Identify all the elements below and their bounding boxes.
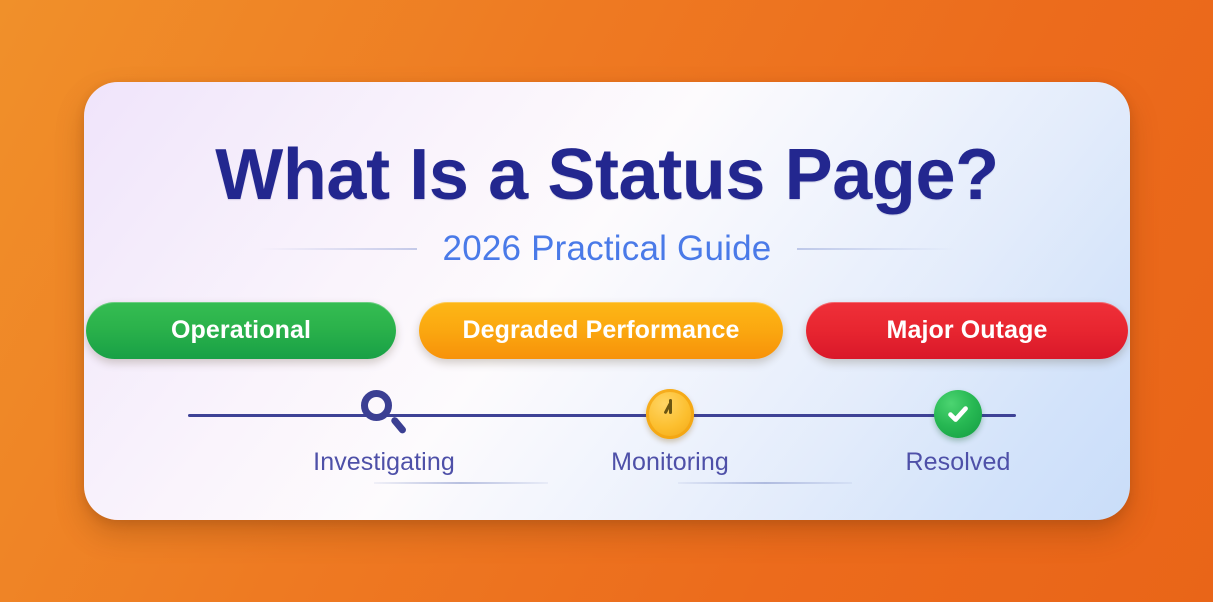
page-subtitle: 2026 Practical Guide	[443, 229, 772, 269]
subtitle-rule-left	[259, 248, 417, 250]
timeline-label-rule-1	[374, 482, 548, 484]
incident-timeline: Investigating Monitoring	[188, 398, 1016, 498]
status-page-card: What Is a Status Page? 2026 Practical Gu…	[84, 82, 1130, 520]
status-pill-row: Operational Degraded Performance Major O…	[84, 302, 1130, 359]
subtitle-rule-right	[797, 248, 955, 250]
status-badge-operational[interactable]: Operational	[86, 302, 396, 359]
status-badge-degraded[interactable]: Degraded Performance	[419, 302, 783, 359]
timeline-step-monitoring[interactable]: Monitoring	[590, 398, 750, 477]
infographic-canvas: What Is a Status Page? 2026 Practical Gu…	[0, 0, 1213, 602]
timeline-step-investigating[interactable]: Investigating	[304, 398, 464, 477]
check-circle-icon	[931, 387, 985, 441]
clock-icon	[643, 387, 697, 441]
subtitle-row: 2026 Practical Guide	[84, 229, 1130, 269]
timeline-step-resolved[interactable]: Resolved	[878, 398, 1038, 477]
page-title: What Is a Status Page?	[84, 138, 1130, 214]
magnifier-icon	[357, 387, 411, 441]
timeline-step-label-resolved: Resolved	[905, 448, 1010, 477]
timeline-step-label-monitoring: Monitoring	[611, 448, 729, 477]
timeline-label-rule-2	[678, 482, 852, 484]
status-badge-major-outage[interactable]: Major Outage	[806, 302, 1128, 359]
timeline-step-label-investigating: Investigating	[313, 448, 455, 477]
